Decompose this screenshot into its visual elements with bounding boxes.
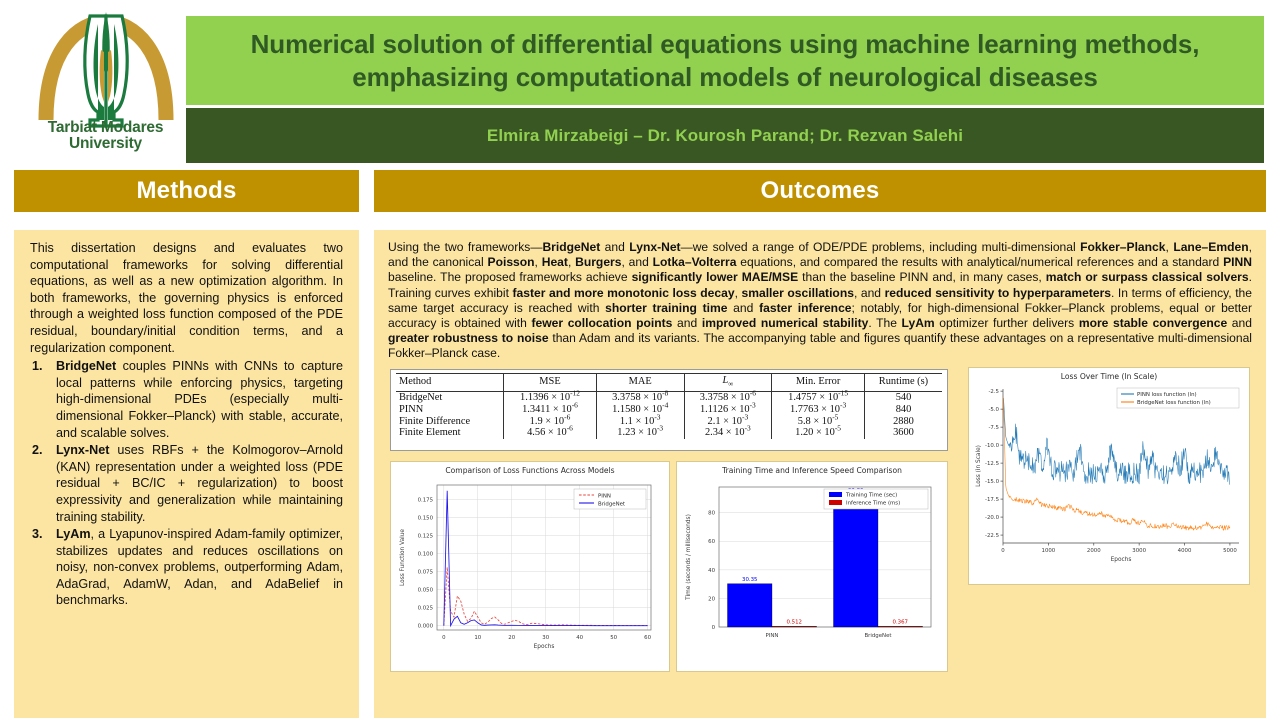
- emphasis-run: improved numerical stability: [702, 316, 869, 330]
- emphasis-run: smaller oscillations: [741, 286, 853, 300]
- results-table-figure: MethodMSEMAEL∞Min. ErrorRuntime (s)Bridg…: [390, 369, 948, 451]
- table-column-header: Runtime (s): [864, 373, 942, 391]
- text-run: . The: [868, 316, 901, 330]
- outcomes-body: Using the two frameworks—BridgeNet and L…: [374, 230, 1266, 718]
- outcomes-heading: Outcomes: [374, 170, 1266, 212]
- svg-text:-2.5: -2.5: [988, 389, 999, 395]
- svg-text:50: 50: [610, 635, 617, 641]
- svg-text:Epochs: Epochs: [534, 644, 555, 650]
- loss-over-time-title: Loss Over Time (ln Scale): [971, 372, 1247, 381]
- table-row: Finite Difference1.9 × 10-61.1 × 10-32.1…: [396, 415, 942, 427]
- logo-line-1: Tarbiat Modares: [28, 120, 183, 136]
- emphasis-run: Lynx-Net: [629, 240, 680, 254]
- table-cell: 3.3758 × 10-6: [684, 391, 772, 403]
- table-cell: 2.1 × 10-3: [684, 415, 772, 427]
- poster-title-bar: Numerical solution of differential equat…: [186, 16, 1264, 105]
- svg-text:30.35: 30.35: [742, 577, 757, 583]
- svg-text:0: 0: [442, 635, 446, 641]
- svg-text:2000: 2000: [1087, 548, 1101, 554]
- svg-text:20: 20: [708, 596, 715, 602]
- svg-text:0: 0: [1001, 548, 1005, 554]
- svg-text:40: 40: [576, 635, 583, 641]
- svg-text:PINN: PINN: [766, 633, 779, 639]
- methods-column: Methods This dissertation designs and ev…: [14, 170, 359, 718]
- table-column-header: Method: [396, 373, 504, 391]
- emphasis-run: Fokker–Planck: [1080, 240, 1165, 254]
- table-cell: 1.4757 × 10-15: [772, 391, 865, 403]
- svg-text:-10.0: -10.0: [985, 443, 1000, 449]
- logo-wordmark: Tarbiat Modares University: [28, 120, 183, 152]
- poster-canvas: Tarbiat Modares University Numerical sol…: [0, 0, 1280, 720]
- table-cell: 1.3411 × 10-6: [504, 403, 597, 415]
- text-run: , and: [621, 255, 652, 269]
- table-cell: 2.34 × 10-3: [684, 427, 772, 439]
- svg-text:60: 60: [708, 539, 715, 545]
- results-table: MethodMSEMAEL∞Min. ErrorRuntime (s)Bridg…: [396, 373, 942, 439]
- text-run: optimizer further delivers: [935, 316, 1079, 330]
- svg-text:Inference Time (ms): Inference Time (ms): [846, 500, 900, 506]
- svg-text:5000: 5000: [1223, 548, 1237, 554]
- logo-graphic: [28, 8, 183, 128]
- text-run: —we solved a range of ODE/PDE problems, …: [681, 240, 1081, 254]
- svg-text:0.000: 0.000: [418, 623, 434, 629]
- time-comparison-title: Training Time and Inference Speed Compar…: [679, 466, 945, 475]
- text-run: and: [1227, 316, 1252, 330]
- poster-header: Tarbiat Modares University Numerical sol…: [0, 0, 1280, 166]
- table-cell: Finite Difference: [396, 415, 504, 427]
- emphasis-run: faster and more monotonic loss decay: [512, 286, 734, 300]
- figures-area: MethodMSEMAEL∞Min. ErrorRuntime (s)Bridg…: [388, 369, 1252, 674]
- svg-text:BridgeNet: BridgeNet: [598, 501, 625, 507]
- table-cell: 2880: [864, 415, 942, 427]
- table-cell: 1.23 × 10-3: [596, 427, 684, 439]
- emphasis-run: shorter training time: [605, 301, 727, 315]
- emphasis-run: fewer collocation points: [531, 316, 672, 330]
- text-run: than the baseline PINN and, in many case…: [798, 270, 1046, 284]
- svg-text:Epochs: Epochs: [1111, 557, 1132, 563]
- svg-text:Time (seconds / milliseconds): Time (seconds / milliseconds): [686, 514, 692, 601]
- text-run: Using the two frameworks—: [388, 240, 542, 254]
- svg-text:0.075: 0.075: [418, 569, 433, 575]
- svg-text:0.050: 0.050: [418, 587, 434, 593]
- time-comparison-figure: Training Time and Inference Speed Compar…: [676, 461, 948, 672]
- emphasis-run: LyAm: [902, 316, 935, 330]
- list-item-number: 1.: [32, 358, 52, 375]
- svg-text:20: 20: [508, 635, 515, 641]
- emphasis-run: match or surpass classical solvers: [1046, 270, 1249, 284]
- list-item-term: BridgeNet: [56, 359, 116, 373]
- svg-text:-20.0: -20.0: [985, 515, 1000, 521]
- page-title: Numerical solution of differential equat…: [208, 28, 1242, 94]
- table-cell: 1.9 × 10-6: [504, 415, 597, 427]
- table-column-header: L∞: [684, 373, 772, 391]
- emphasis-run: BridgeNet: [542, 240, 600, 254]
- text-run: baseline. The proposed frameworks achiev…: [388, 270, 632, 284]
- emphasis-run: reduced sensitivity to hyperparameters: [885, 286, 1111, 300]
- time-comparison-chart: 02040608030.350.512PINN92.800.367BridgeN…: [679, 475, 945, 665]
- emphasis-run: Burgers: [575, 255, 621, 269]
- svg-text:0.125: 0.125: [418, 533, 433, 539]
- loss-over-time-figure: Loss Over Time (ln Scale) -2.5-5.0-7.5-1…: [968, 367, 1250, 585]
- svg-text:0.175: 0.175: [418, 497, 433, 503]
- svg-text:0.150: 0.150: [418, 515, 434, 521]
- text-run: , and: [854, 286, 885, 300]
- table-cell: 3600: [864, 427, 942, 439]
- methods-list-item: 3.LyAm, a Lyapunov-inspired Adam-family …: [30, 526, 343, 609]
- university-logo: Tarbiat Modares University: [28, 8, 183, 163]
- svg-text:4000: 4000: [1178, 548, 1192, 554]
- loss-over-time-chart: -2.5-5.0-7.5-10.0-12.5-15.0-17.5-20.0-22…: [971, 381, 1247, 577]
- loss-comparison-title: Comparison of Loss Functions Across Mode…: [393, 466, 667, 475]
- table-cell: BridgeNet: [396, 391, 504, 403]
- table-column-header: Min. Error: [772, 373, 865, 391]
- table-cell: 4.56 × 10-6: [504, 427, 597, 439]
- svg-text:60: 60: [644, 635, 651, 641]
- text-run: and: [600, 240, 629, 254]
- author-list: Elmira Mirzabeigi – Dr. Kourosh Parand; …: [487, 126, 963, 146]
- text-run: equations, and compared the results with…: [736, 255, 1223, 269]
- methods-list-item: 1.BridgeNet couples PINNs with CNNs to c…: [30, 358, 343, 441]
- list-item-term: Lynx-Net: [56, 443, 109, 457]
- table-cell: 540: [864, 391, 942, 403]
- emphasis-run: faster inference: [759, 301, 851, 315]
- svg-text:0.367: 0.367: [893, 619, 908, 625]
- methods-heading: Methods: [14, 170, 359, 212]
- text-run: and: [727, 301, 759, 315]
- methods-body: This dissertation designs and evaluates …: [14, 230, 359, 718]
- svg-text:Loss (in Scale): Loss (in Scale): [976, 445, 982, 487]
- svg-text:80: 80: [708, 510, 715, 516]
- emphasis-run: PINN: [1223, 255, 1252, 269]
- svg-text:0: 0: [712, 625, 716, 631]
- svg-text:-5.0: -5.0: [988, 407, 999, 413]
- table-column-header: MAE: [596, 373, 684, 391]
- methods-list-item: 2.Lynx-Net uses RBFs + the Kolmogorov–Ar…: [30, 442, 343, 525]
- text-run: and: [672, 316, 701, 330]
- methods-intro-paragraph: This dissertation designs and evaluates …: [30, 240, 343, 356]
- table-cell: Finite Element: [396, 427, 504, 439]
- methods-list: 1.BridgeNet couples PINNs with CNNs to c…: [30, 358, 343, 609]
- loss-comparison-figure: Comparison of Loss Functions Across Mode…: [390, 461, 670, 672]
- emphasis-run: more stable convergence: [1079, 316, 1227, 330]
- svg-text:0.100: 0.100: [418, 551, 434, 557]
- list-item-text: , a Lyapunov-inspired Adam-family optimi…: [56, 527, 343, 607]
- svg-text:10: 10: [474, 635, 481, 641]
- logo-line-2: University: [28, 136, 183, 152]
- svg-text:PINN: PINN: [598, 493, 611, 499]
- table-cell: 840: [864, 403, 942, 415]
- list-item-term: LyAm: [56, 527, 91, 541]
- emphasis-run: significantly lower MAE/MSE: [632, 270, 799, 284]
- svg-text:-15.0: -15.0: [985, 479, 1000, 485]
- svg-text:0.512: 0.512: [787, 619, 802, 625]
- svg-text:40: 40: [708, 567, 715, 573]
- table-cell: PINN: [396, 403, 504, 415]
- table-cell: 1.1396 × 10-12: [504, 391, 597, 403]
- svg-text:30: 30: [542, 635, 549, 641]
- svg-text:3000: 3000: [1132, 548, 1146, 554]
- table-column-header: MSE: [504, 373, 597, 391]
- table-cell: 1.7763 × 10-3: [772, 403, 865, 415]
- svg-text:0.025: 0.025: [418, 605, 433, 611]
- table-row: PINN1.3411 × 10-61.1580 × 10-41.1126 × 1…: [396, 403, 942, 415]
- table-cell: 1.1126 × 10-3: [684, 403, 772, 415]
- table-cell: 1.1 × 10-3: [596, 415, 684, 427]
- outcomes-column: Outcomes Using the two frameworks—Bridge…: [374, 170, 1266, 718]
- svg-text:Training Time (sec): Training Time (sec): [845, 492, 897, 498]
- emphasis-run: Poisson: [488, 255, 535, 269]
- text-run: ,: [535, 255, 542, 269]
- svg-text:-22.5: -22.5: [985, 533, 999, 539]
- list-item-number: 2.: [32, 442, 52, 459]
- table-row: Finite Element4.56 × 10-61.23 × 10-32.34…: [396, 427, 942, 439]
- table-row: BridgeNet1.1396 × 10-123.3758 × 10-83.37…: [396, 391, 942, 403]
- loss-comparison-chart: 0.0000.0250.0500.0750.1000.1250.1500.175…: [393, 475, 667, 665]
- svg-text:-7.5: -7.5: [988, 425, 999, 431]
- table-cell: 1.1580 × 10-4: [596, 403, 684, 415]
- svg-text:Loss Function Value: Loss Function Value: [400, 528, 406, 585]
- svg-text:-17.5: -17.5: [985, 497, 999, 503]
- emphasis-run: greater robustness to noise: [388, 331, 549, 345]
- emphasis-run: Heat: [542, 255, 568, 269]
- svg-text:BridgeNet: BridgeNet: [864, 633, 891, 639]
- table-cell: 1.20 × 10-5: [772, 427, 865, 439]
- svg-text:-12.5: -12.5: [985, 461, 999, 467]
- poster-author-bar: Elmira Mirzabeigi – Dr. Kourosh Parand; …: [186, 108, 1264, 163]
- svg-text:BridgeNet loss function (ln): BridgeNet loss function (ln): [1137, 400, 1211, 406]
- emphasis-run: Lotka–Volterra: [653, 255, 737, 269]
- svg-text:PINN loss function (ln): PINN loss function (ln): [1137, 392, 1197, 398]
- table-cell: 3.3758 × 10-8: [596, 391, 684, 403]
- outcomes-paragraph: Using the two frameworks—BridgeNet and L…: [388, 240, 1252, 362]
- list-item-number: 3.: [32, 526, 52, 543]
- svg-text:1000: 1000: [1042, 548, 1056, 554]
- table-cell: 5.8 × 10-5: [772, 415, 865, 427]
- emphasis-run: Lane–Emden: [1173, 240, 1248, 254]
